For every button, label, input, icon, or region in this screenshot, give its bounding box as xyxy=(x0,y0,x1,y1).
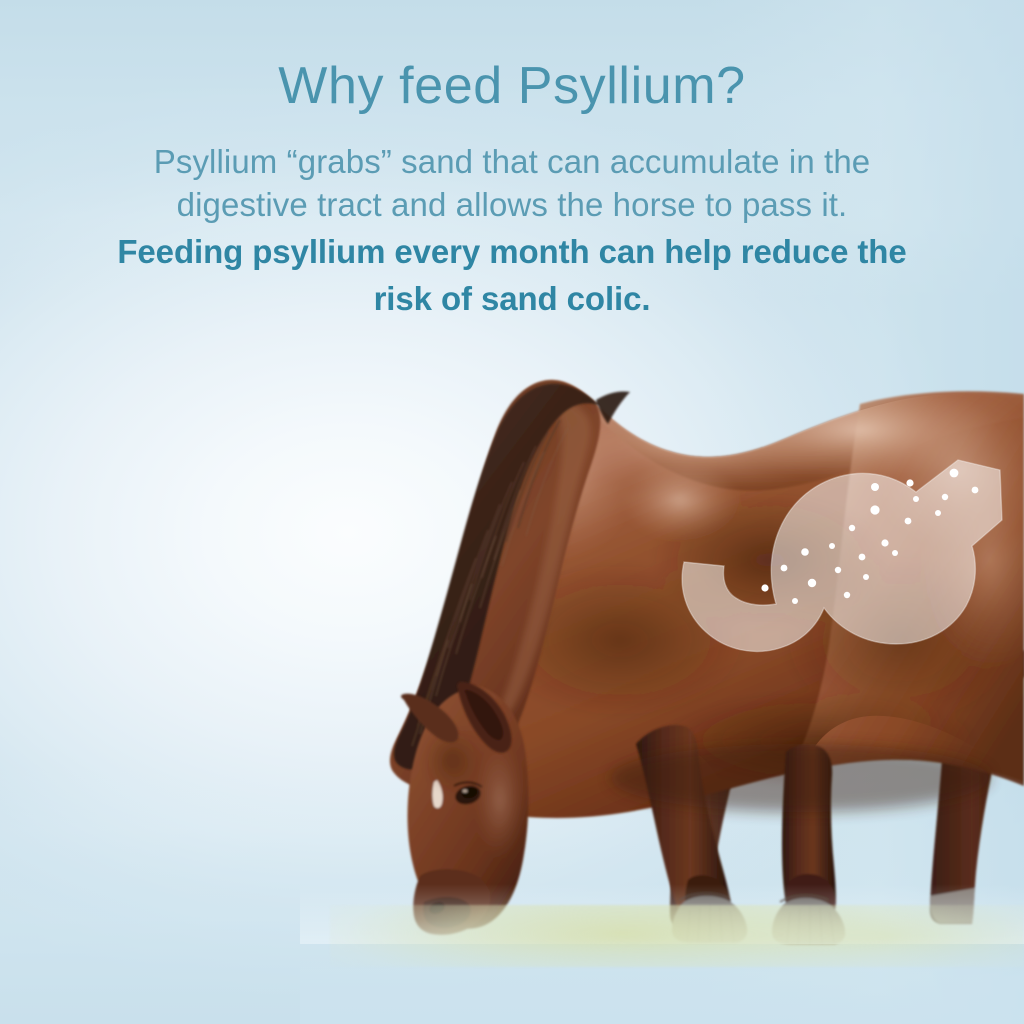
horse-belly-shadow xyxy=(610,744,990,812)
page-title: Why feed Psyllium? xyxy=(0,0,1024,115)
emphasis-line-1: Feeding psyllium every month can help re… xyxy=(0,227,1024,274)
body-line-1: Psyllium “grabs” sand that can accumulat… xyxy=(0,115,1024,184)
grass-fade xyxy=(300,940,1024,1024)
text-block: Why feed Psyllium? Psyllium “grabs” sand… xyxy=(0,0,1024,321)
infographic-canvas: Why feed Psyllium? Psyllium “grabs” sand… xyxy=(0,0,1024,1024)
body-line-2: digestive tract and allows the horse to … xyxy=(0,184,1024,227)
emphasis-line-2: risk of sand colic. xyxy=(0,274,1024,321)
